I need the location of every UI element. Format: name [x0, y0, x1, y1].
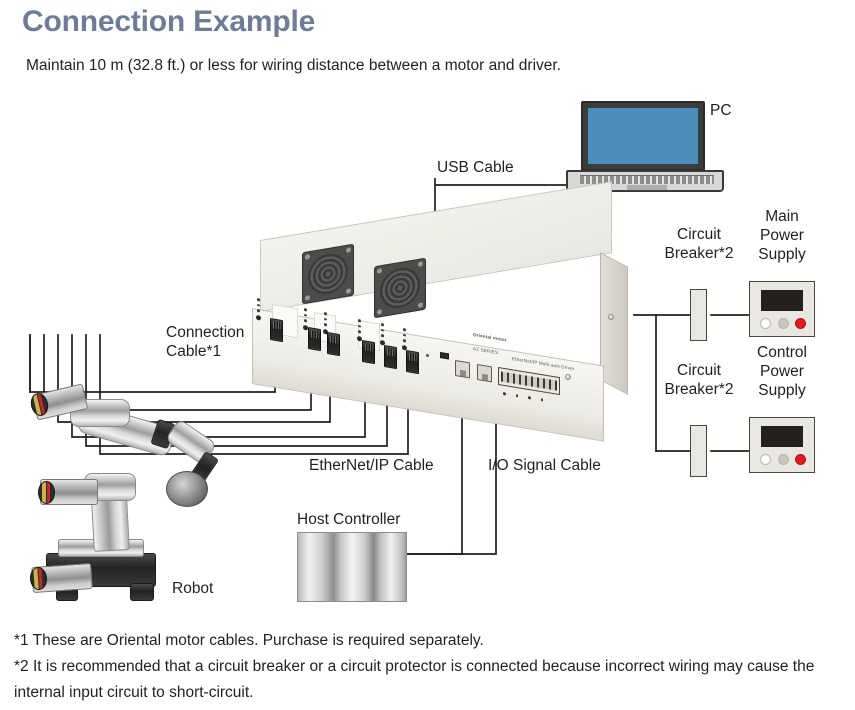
- label-circuit-breaker-control: Circuit Breaker*2: [664, 361, 734, 399]
- label-control-power-supply: Control Power Supply: [748, 343, 816, 400]
- label-connection-cable: Connection Cable*1: [166, 323, 244, 361]
- driver-screw-side: [608, 314, 614, 320]
- driver-led-row-5: [381, 323, 385, 345]
- motor-connector-3[interactable]: [327, 332, 340, 356]
- laptop-lid: [581, 101, 705, 171]
- driver-led-row-1: [257, 298, 261, 320]
- multi-axis-driver-unit: Oriental motor AZ SERIES EtherNet/IP Mul…: [248, 240, 634, 485]
- driver-brand-mark: Oriental motor: [473, 332, 507, 343]
- cooling-fan-icon: [302, 244, 354, 305]
- psu-indicator-white: [760, 318, 771, 329]
- psu-indicator-group: [760, 318, 806, 329]
- motor-connector-1[interactable]: [270, 318, 283, 342]
- label-main-power-supply: Main Power Supply: [748, 207, 816, 264]
- psu-indicator-red: [795, 318, 806, 329]
- psu-indicator-white: [760, 454, 771, 465]
- driver-led-row-6: [403, 328, 407, 350]
- ethernet-port-1[interactable]: [455, 360, 470, 378]
- psu-display: [761, 290, 803, 311]
- control-power-supply: [749, 417, 815, 473]
- label-host-controller: Host Controller: [297, 510, 400, 529]
- pc-laptop: [566, 101, 726, 193]
- connection-diagram: PC USB Cable: [0, 85, 855, 620]
- label-pc: PC: [710, 101, 732, 120]
- robot-motor-cap-j2: [38, 481, 55, 504]
- driver-led-row-3: [324, 312, 328, 334]
- label-io-signal-cable: I/O Signal Cable: [488, 456, 601, 475]
- driver-status-led: [426, 354, 429, 357]
- driver-led-row-4: [358, 319, 362, 341]
- motor-connector-6[interactable]: [406, 350, 419, 374]
- page-subtitle: Maintain 10 m (32.8 ft.) or less for wir…: [26, 57, 561, 75]
- motor-connector-4[interactable]: [362, 340, 375, 364]
- psu-indicator-group: [760, 454, 806, 465]
- laptop-screen: [588, 108, 698, 164]
- footnotes: *1 These are Oriental motor cables. Purc…: [14, 628, 842, 706]
- psu-display: [761, 426, 803, 447]
- driver-right-face: [600, 252, 628, 395]
- usb-port[interactable]: [440, 352, 449, 359]
- psu-indicator-gray: [778, 454, 789, 465]
- motor-connector-5[interactable]: [384, 345, 397, 369]
- robot-foot-right: [130, 583, 154, 601]
- psu-indicator-red: [795, 454, 806, 465]
- label-circuit-breaker-main: Circuit Breaker*2: [664, 225, 734, 263]
- driver-screw-front: [565, 374, 571, 380]
- circuit-breaker-control: [690, 425, 707, 477]
- footnote-2: *2 It is recommended that a circuit brea…: [14, 654, 842, 706]
- circuit-breaker-main: [690, 289, 707, 341]
- footnote-1: *1 These are Oriental motor cables. Purc…: [14, 628, 842, 654]
- label-robot: Robot: [172, 579, 213, 598]
- label-ethernet-cable: EtherNet/IP Cable: [309, 456, 434, 475]
- robot-end-effector: [166, 471, 208, 507]
- main-power-supply: [749, 281, 815, 337]
- connection-example-page: Connection Example Maintain 10 m (32.8 f…: [0, 0, 855, 710]
- ethernet-port-2[interactable]: [477, 364, 492, 382]
- label-usb-cable: USB Cable: [437, 158, 514, 177]
- robot-arm: [18, 375, 233, 610]
- psu-indicator-gray: [778, 318, 789, 329]
- motor-connector-2[interactable]: [308, 327, 321, 351]
- cooling-fan-icon: [374, 258, 426, 319]
- page-title: Connection Example: [22, 5, 315, 39]
- host-controller: [297, 532, 407, 602]
- laptop-touchpad: [627, 185, 667, 190]
